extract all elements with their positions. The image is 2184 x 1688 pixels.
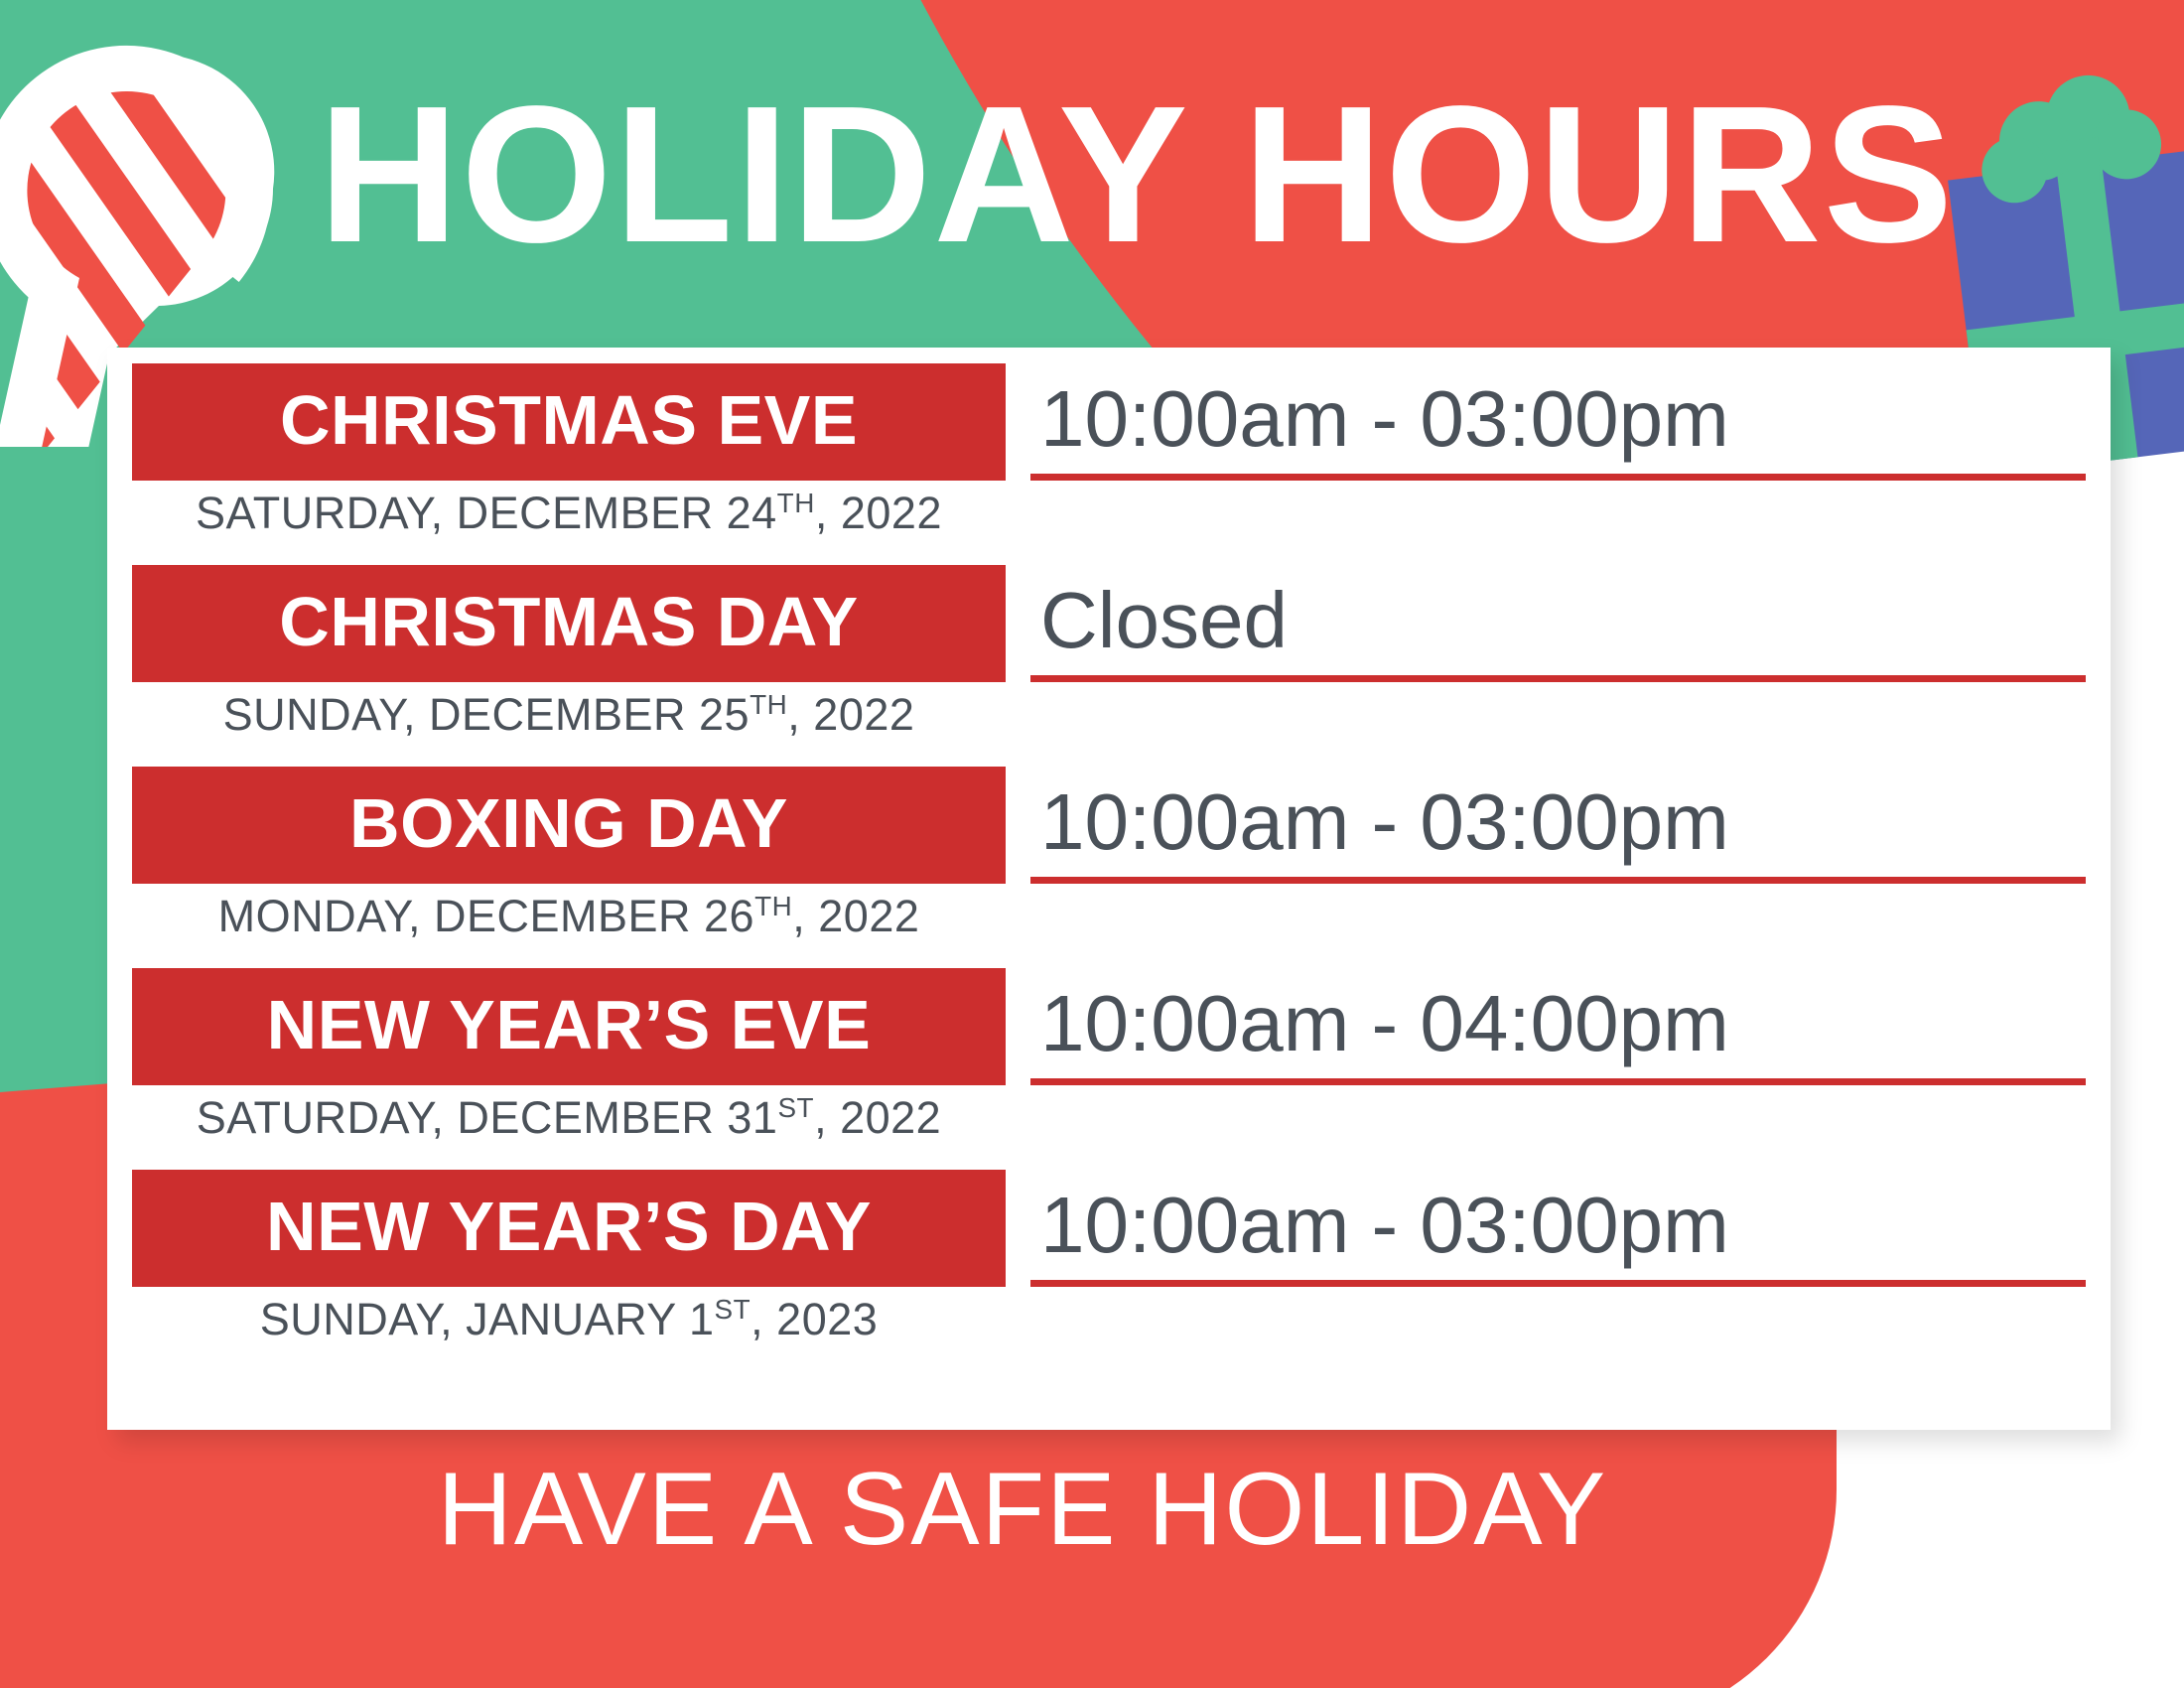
hours-cell: Closed: [1030, 565, 2086, 682]
date-prefix: SATURDAY, DECEMBER 31: [197, 1092, 778, 1143]
holiday-date: SATURDAY, DECEMBER 24TH, 2022: [132, 487, 1006, 540]
date-ordinal: TH: [777, 488, 815, 518]
date-suffix: , 2022: [815, 488, 942, 538]
date-ordinal: TH: [754, 891, 792, 921]
date-ordinal: ST: [715, 1294, 751, 1325]
schedule-rows: CHRISTMAS EVE 10:00am - 03:00pm SATURDAY…: [132, 363, 2086, 1371]
date-prefix: SUNDAY, JANUARY 1: [260, 1294, 715, 1344]
holiday-date: SUNDAY, DECEMBER 25TH, 2022: [132, 688, 1006, 742]
row-main: BOXING DAY 10:00am - 03:00pm: [132, 767, 2086, 884]
holiday-label-bar: CHRISTMAS DAY: [132, 565, 1006, 682]
date-prefix: SUNDAY, DECEMBER 25: [223, 689, 751, 740]
row-main: CHRISTMAS EVE 10:00am - 03:00pm: [132, 363, 2086, 481]
date-suffix: , 2022: [787, 689, 914, 740]
hours-value: Closed: [1030, 581, 1288, 660]
table-row: CHRISTMAS DAY Closed SUNDAY, DECEMBER 25…: [132, 565, 2086, 767]
holiday-date: SUNDAY, JANUARY 1ST, 2023: [132, 1293, 1006, 1346]
holiday-label-bar: CHRISTMAS EVE: [132, 363, 1006, 481]
hours-cell: 10:00am - 03:00pm: [1030, 767, 2086, 884]
hours-cell: 10:00am - 03:00pm: [1030, 363, 2086, 481]
hours-value: 10:00am - 03:00pm: [1030, 1186, 1729, 1265]
date-suffix: , 2022: [814, 1092, 941, 1143]
holiday-name: BOXING DAY: [349, 788, 788, 858]
holiday-label-bar: NEW YEAR’S DAY: [132, 1170, 1006, 1287]
table-row: NEW YEAR’S DAY 10:00am - 03:00pm SUNDAY,…: [132, 1170, 2086, 1371]
schedule-card: CHRISTMAS EVE 10:00am - 03:00pm SATURDAY…: [107, 348, 2111, 1430]
date-ordinal: ST: [777, 1092, 814, 1123]
row-main: CHRISTMAS DAY Closed: [132, 565, 2086, 682]
row-main: NEW YEAR’S DAY 10:00am - 03:00pm: [132, 1170, 2086, 1287]
hours-cell: 10:00am - 03:00pm: [1030, 1170, 2086, 1287]
row-main: NEW YEAR’S EVE 10:00am - 04:00pm: [132, 968, 2086, 1085]
holiday-hours-poster: HOLIDAY HOURS CHRISTMAS EVE 10:00am - 03…: [0, 0, 2184, 1688]
table-row: CHRISTMAS EVE 10:00am - 03:00pm SATURDAY…: [132, 363, 2086, 565]
holiday-name: NEW YEAR’S DAY: [266, 1192, 872, 1261]
date-prefix: MONDAY, DECEMBER 26: [218, 891, 754, 941]
holiday-name: NEW YEAR’S EVE: [267, 990, 872, 1059]
hours-value: 10:00am - 03:00pm: [1030, 379, 1729, 459]
page-title: HOLIDAY HOURS: [0, 77, 2184, 272]
holiday-name: CHRISTMAS DAY: [279, 587, 858, 656]
date-suffix: , 2022: [792, 891, 919, 941]
date-ordinal: TH: [750, 689, 787, 720]
holiday-name: CHRISTMAS EVE: [280, 385, 858, 455]
table-row: NEW YEAR’S EVE 10:00am - 04:00pm SATURDA…: [132, 968, 2086, 1170]
date-suffix: , 2023: [751, 1294, 878, 1344]
date-prefix: SATURDAY, DECEMBER 24: [196, 488, 777, 538]
holiday-date: SATURDAY, DECEMBER 31ST, 2022: [132, 1091, 1006, 1145]
holiday-date: MONDAY, DECEMBER 26TH, 2022: [132, 890, 1006, 943]
hours-value: 10:00am - 03:00pm: [1030, 782, 1729, 862]
footer-tagline: HAVE A SAFE HOLIDAY: [0, 1458, 2184, 1561]
table-row: BOXING DAY 10:00am - 03:00pm MONDAY, DEC…: [132, 767, 2086, 968]
holiday-label-bar: BOXING DAY: [132, 767, 1006, 884]
holiday-label-bar: NEW YEAR’S EVE: [132, 968, 1006, 1085]
hours-value: 10:00am - 04:00pm: [1030, 984, 1729, 1063]
hours-cell: 10:00am - 04:00pm: [1030, 968, 2086, 1085]
